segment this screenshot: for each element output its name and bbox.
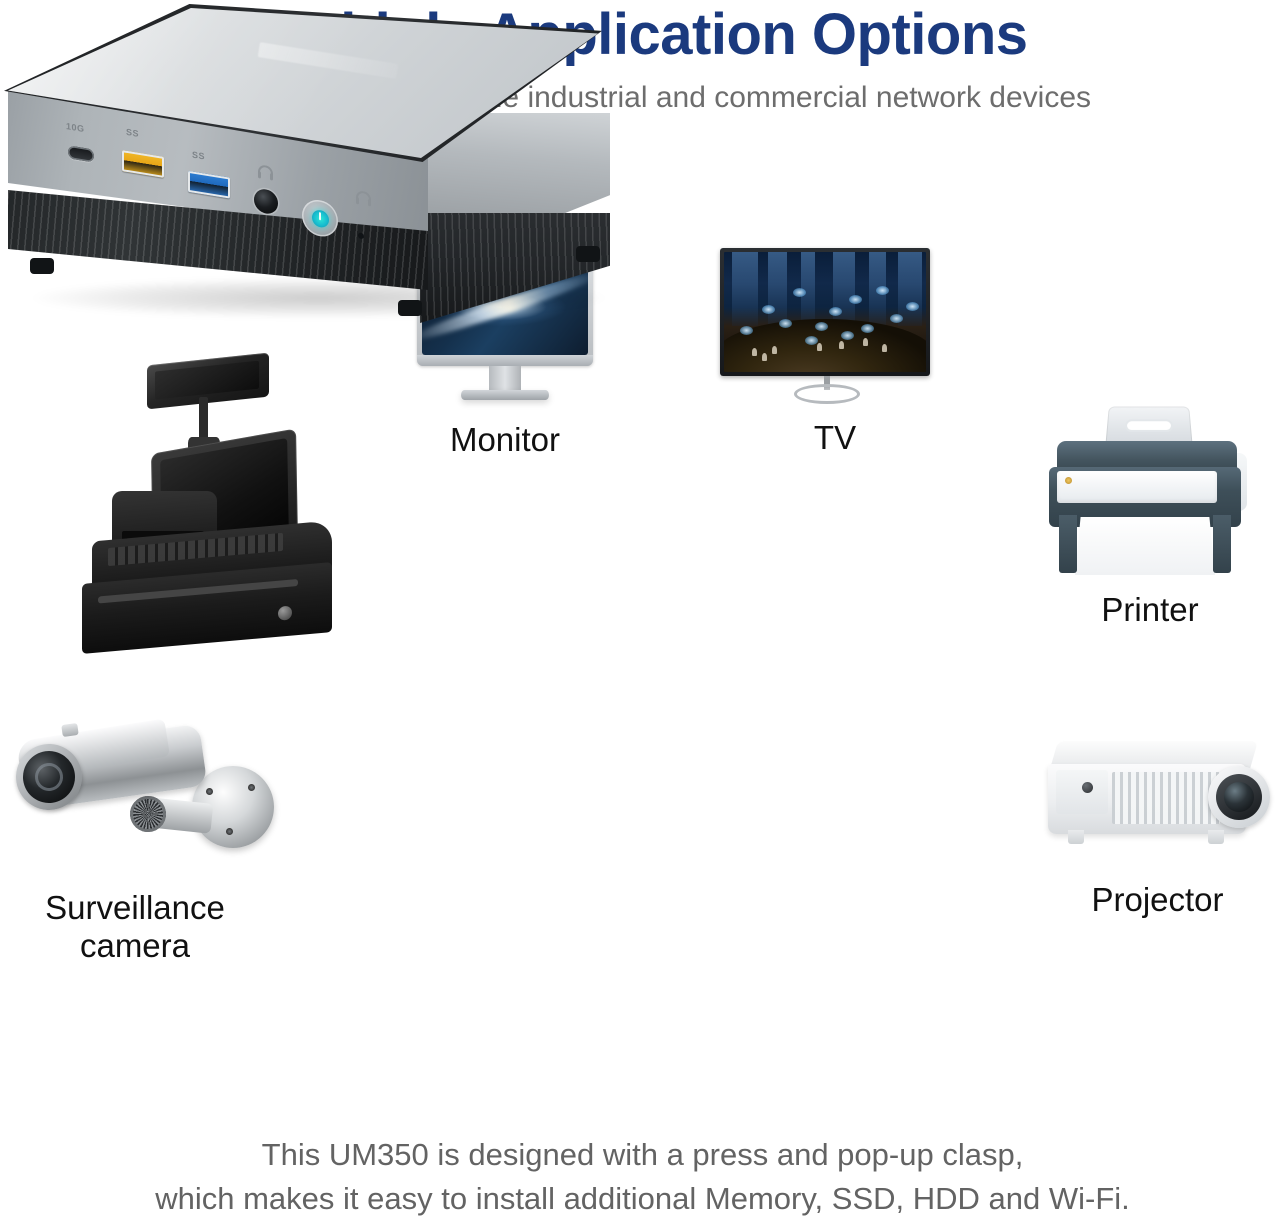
device-card-camera: Surveillance camera — [10, 718, 260, 965]
tv-scene-mushroom — [863, 338, 868, 346]
rubber-foot — [576, 246, 600, 262]
tv-scene-trunk — [768, 252, 786, 326]
device-label-tv: TV — [720, 419, 950, 457]
tv-scene-butterfly — [793, 288, 806, 297]
reset-pinhole[interactable] — [358, 232, 364, 239]
headphone-icon — [356, 190, 371, 201]
footer-line-1: This UM350 is designed with a press and … — [0, 1133, 1285, 1177]
device-card-tv: TV — [720, 248, 950, 457]
tv-scene-mushroom — [752, 348, 757, 356]
usb-a-blue-port[interactable] — [188, 171, 230, 199]
printer-icon — [1035, 405, 1265, 585]
usb-a-yellow-port[interactable] — [122, 150, 164, 178]
rubber-foot — [30, 258, 54, 274]
projector-icon — [1040, 730, 1275, 875]
tv-scene-butterfly — [815, 322, 828, 331]
pos-terminal-icon — [52, 345, 352, 580]
device-card-projector: Projector — [1040, 730, 1275, 919]
tv-icon — [720, 248, 950, 413]
footer-caption: This UM350 is designed with a press and … — [0, 1133, 1285, 1221]
mini-pc-icon: 10G SS SS — [0, 0, 640, 330]
tv-scene-mushroom — [817, 343, 822, 351]
tv-scene-mushroom — [882, 344, 887, 352]
headphone-jack[interactable] — [254, 188, 278, 216]
footer-line-2: which makes it easy to install additiona… — [0, 1177, 1285, 1221]
tv-scene-mushroom — [762, 353, 767, 361]
device-label-monitor: Monitor — [405, 421, 605, 459]
usb-c-port-label: 10G — [66, 121, 85, 134]
usb-a-blue-port-label: SS — [192, 149, 205, 161]
device-label-printer: Printer — [1035, 591, 1265, 629]
tv-scene-butterfly — [779, 319, 792, 328]
device-label-projector: Projector — [1040, 881, 1275, 919]
device-card-pos: The POS — [52, 345, 352, 624]
tv-scene-butterfly — [805, 336, 818, 345]
usb-a-yellow-port-label: SS — [126, 127, 139, 139]
surveillance-camera-icon — [10, 718, 260, 883]
headphone-icon — [258, 164, 273, 175]
device-card-printer: Printer — [1035, 405, 1265, 629]
tv-scene-mushroom — [839, 341, 844, 349]
rubber-foot — [398, 300, 422, 316]
tv-scene-trunk — [732, 252, 758, 326]
tv-scene-butterfly — [762, 305, 775, 314]
device-label-camera: Surveillance camera — [10, 889, 260, 965]
power-icon — [312, 208, 329, 228]
tv-scene-butterfly — [849, 295, 862, 304]
usb-c-port[interactable] — [68, 145, 94, 162]
tv-scene-butterfly — [876, 286, 889, 295]
